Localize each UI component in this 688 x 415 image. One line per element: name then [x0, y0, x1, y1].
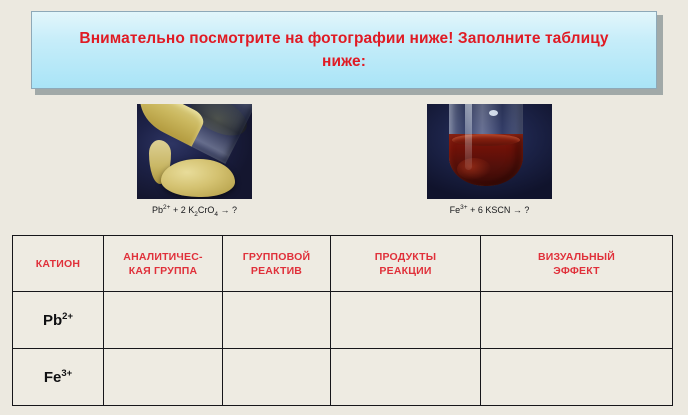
header-group-reagent: ГРУППОВОЙРЕАКТИВ: [223, 236, 331, 292]
iron-thiocyanate-test-tube-image: [427, 104, 552, 199]
cell-group-reagent-fe[interactable]: [223, 349, 331, 406]
cell-group-reagent-pb[interactable]: [223, 292, 331, 349]
cation-charge: 2+: [62, 311, 73, 322]
cation-label: Fe3+: [44, 369, 72, 386]
lead-chromate-test-tube-image: [137, 104, 252, 199]
caption-segment: + 6 KSCN → ?: [468, 205, 530, 215]
caption-segment: Fe: [450, 205, 461, 215]
cell-analytical-group-pb[interactable]: [104, 292, 223, 349]
header-analytical-group: АНАЛИТИЧЕС-КАЯ ГРУППА: [104, 236, 223, 292]
cell-analytical-group-fe[interactable]: [104, 349, 223, 406]
yellow-precipitate-blob: [161, 159, 235, 197]
caption-segment: Pb: [152, 205, 163, 215]
photo-block-iron: Fe3+ + 6 KSCN → ?: [427, 104, 552, 215]
table-header-row: КАТИОН АНАЛИТИЧЕС-КАЯ ГРУППА ГРУППОВОЙРЕ…: [13, 236, 673, 292]
photo-block-lead: Pb2+ + 2 K2CrO4 → ?: [137, 104, 252, 215]
photo-caption-iron: Fe3+ + 6 KSCN → ?: [427, 205, 552, 215]
cell-reaction-products-fe[interactable]: [331, 349, 481, 406]
table-row: Fe3+: [13, 349, 673, 406]
cell-cation-pb: Pb2+: [13, 292, 104, 349]
banner-box: Внимательно посмотрите на фотографии ниж…: [31, 11, 657, 89]
table-row: Pb2+: [13, 292, 673, 349]
instruction-banner: Внимательно посмотрите на фотографии ниж…: [31, 11, 659, 91]
liquid-meniscus: [452, 134, 520, 146]
cation-symbol: Pb: [43, 312, 62, 329]
cell-visual-effect-pb[interactable]: [481, 292, 673, 349]
cation-charge: 3+: [61, 368, 72, 379]
header-cation: КАТИОН: [13, 236, 104, 292]
caption-segment: → ?: [218, 205, 237, 215]
glass-sparkle: [489, 110, 498, 116]
cell-cation-fe: Fe3+: [13, 349, 104, 406]
cation-symbol: Fe: [44, 369, 62, 386]
caption-charge: 3+: [460, 204, 467, 211]
test-tube-glass: [449, 104, 523, 186]
photo-caption-lead: Pb2+ + 2 K2CrO4 → ?: [137, 205, 252, 215]
glass-reflection: [465, 104, 472, 170]
yellow-precipitate-inner: [137, 104, 207, 147]
cation-worksheet-table: КАТИОН АНАЛИТИЧЕС-КАЯ ГРУППА ГРУППОВОЙРЕ…: [12, 235, 673, 406]
caption-segment: + 2 K: [170, 205, 194, 215]
caption-segment: CrO: [198, 205, 215, 215]
header-reaction-products: ПРОДУКТЫРЕАКЦИИ: [331, 236, 481, 292]
red-solution-highlight: [457, 158, 491, 180]
banner-text: Внимательно посмотрите на фотографии ниж…: [32, 27, 656, 73]
header-visual-effect: ВИЗУАЛЬНЫЙЭФФЕКТ: [481, 236, 673, 292]
cell-reaction-products-pb[interactable]: [331, 292, 481, 349]
cation-label: Pb2+: [43, 312, 73, 329]
cell-visual-effect-fe[interactable]: [481, 349, 673, 406]
